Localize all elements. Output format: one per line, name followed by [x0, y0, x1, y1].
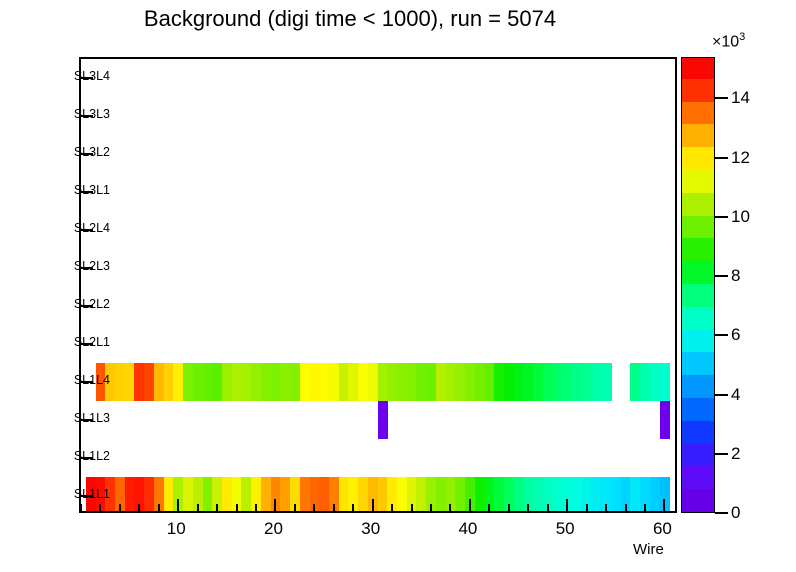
- colorbar-band: [682, 397, 714, 420]
- x-axis-minor-tick: [158, 504, 160, 511]
- x-axis-minor-tick: [508, 504, 510, 511]
- colorbar-band: [682, 215, 714, 238]
- colorbar-exponent-base: ×10: [712, 33, 739, 50]
- x-axis-minor-tick: [547, 504, 549, 511]
- colorbar-label-6: 6: [731, 325, 740, 345]
- colorbar-band: [682, 443, 714, 466]
- y-axis-label-sl1l2: SL1L2: [74, 449, 110, 463]
- x-axis-minor-tick: [527, 504, 529, 511]
- x-axis-label-30: 30: [361, 519, 380, 539]
- x-axis-label-40: 40: [458, 519, 477, 539]
- heatmap-plot-area: [81, 59, 675, 511]
- colorbar-label-12: 12: [731, 148, 750, 168]
- colorbar-band: [682, 78, 714, 101]
- colorbar-band: [682, 466, 714, 489]
- x-axis-major-tick: [566, 499, 568, 511]
- colorbar-tick: [715, 394, 728, 396]
- colorbar-tick: [715, 512, 728, 514]
- colorbar-band: [682, 147, 714, 170]
- x-axis-major-tick: [274, 499, 276, 511]
- colorbar-band: [682, 329, 714, 352]
- y-axis-label-sl3l1: SL3L1: [74, 183, 110, 197]
- colorbar: [681, 57, 715, 513]
- colorbar-label-10: 10: [731, 207, 750, 227]
- x-axis-minor-tick: [80, 504, 82, 511]
- y-axis-label-sl2l3: SL2L3: [74, 259, 110, 273]
- heatmap-cell: [660, 401, 670, 439]
- colorbar-band: [682, 352, 714, 375]
- x-axis-label-60: 60: [653, 519, 672, 539]
- colorbar-tick: [715, 453, 728, 455]
- colorbar-band: [682, 169, 714, 192]
- colorbar-tick: [715, 97, 728, 99]
- x-axis-minor-tick: [391, 504, 393, 511]
- colorbar-band: [682, 101, 714, 124]
- x-axis-minor-tick: [644, 504, 646, 511]
- plot-frame: [79, 57, 677, 513]
- x-axis-major-tick: [663, 499, 665, 511]
- colorbar-exponent-power: 3: [739, 31, 745, 43]
- x-axis-minor-tick: [216, 504, 218, 511]
- colorbar-band: [682, 489, 714, 512]
- y-axis-label-sl2l2: SL2L2: [74, 297, 110, 311]
- colorbar-band: [682, 283, 714, 306]
- colorbar-band: [682, 375, 714, 398]
- heatmap-cell: [660, 363, 670, 401]
- x-axis-minor-tick: [138, 504, 140, 511]
- y-axis-label-sl2l4: SL2L4: [74, 221, 110, 235]
- y-axis-label-sl2l1: SL2L1: [74, 335, 110, 349]
- page-title: Background (digi time < 1000), run = 507…: [0, 6, 700, 32]
- x-axis-minor-tick: [236, 504, 238, 511]
- y-axis-label-sl3l2: SL3L2: [74, 145, 110, 159]
- y-axis-label-sl1l4: SL1L4: [74, 373, 110, 387]
- colorbar-exponent: ×103: [712, 31, 745, 51]
- x-axis-label-50: 50: [556, 519, 575, 539]
- colorbar-tick: [715, 216, 728, 218]
- colorbar-tick: [715, 275, 728, 277]
- x-axis-minor-tick: [488, 504, 490, 511]
- y-axis-label-sl1l1: SL1L1: [74, 487, 110, 501]
- colorbar-band: [682, 238, 714, 261]
- colorbar-band: [682, 306, 714, 329]
- x-axis-minor-tick: [605, 504, 607, 511]
- x-axis-minor-tick: [99, 504, 101, 511]
- x-axis-minor-tick: [255, 504, 257, 511]
- y-axis-label-sl3l3: SL3L3: [74, 107, 110, 121]
- x-axis-minor-tick: [333, 504, 335, 511]
- colorbar-label-4: 4: [731, 385, 740, 405]
- x-axis-label-10: 10: [167, 519, 186, 539]
- root-canvas: Background (digi time < 1000), run = 507…: [0, 0, 796, 572]
- colorbar-label-14: 14: [731, 88, 750, 108]
- heatmap-cell: [378, 401, 388, 439]
- x-axis-minor-tick: [119, 504, 121, 511]
- colorbar-label-0: 0: [731, 503, 740, 523]
- heatmap-cell: [601, 363, 611, 401]
- x-axis-label-20: 20: [264, 519, 283, 539]
- colorbar-band: [682, 420, 714, 443]
- colorbar-band: [682, 57, 714, 79]
- x-axis-minor-tick: [313, 504, 315, 511]
- x-axis-minor-tick: [197, 504, 199, 511]
- x-axis-minor-tick: [411, 504, 413, 511]
- x-axis-major-tick: [177, 499, 179, 511]
- x-axis-minor-tick: [625, 504, 627, 511]
- x-axis-title: Wire: [633, 541, 664, 558]
- x-axis-minor-tick: [294, 504, 296, 511]
- y-axis-label-sl3l4: SL3L4: [74, 69, 110, 83]
- colorbar-label-2: 2: [731, 444, 740, 464]
- colorbar-band: [682, 192, 714, 215]
- colorbar-band: [682, 124, 714, 147]
- colorbar-label-8: 8: [731, 266, 740, 286]
- x-axis-major-tick: [372, 499, 374, 511]
- x-axis-minor-tick: [430, 504, 432, 511]
- colorbar-band: [682, 261, 714, 284]
- x-axis-major-tick: [469, 499, 471, 511]
- colorbar-tick: [715, 334, 728, 336]
- x-axis-minor-tick: [586, 504, 588, 511]
- y-axis-label-sl1l3: SL1L3: [74, 411, 110, 425]
- colorbar-tick: [715, 157, 728, 159]
- x-axis-minor-tick: [449, 504, 451, 511]
- x-axis-minor-tick: [352, 504, 354, 511]
